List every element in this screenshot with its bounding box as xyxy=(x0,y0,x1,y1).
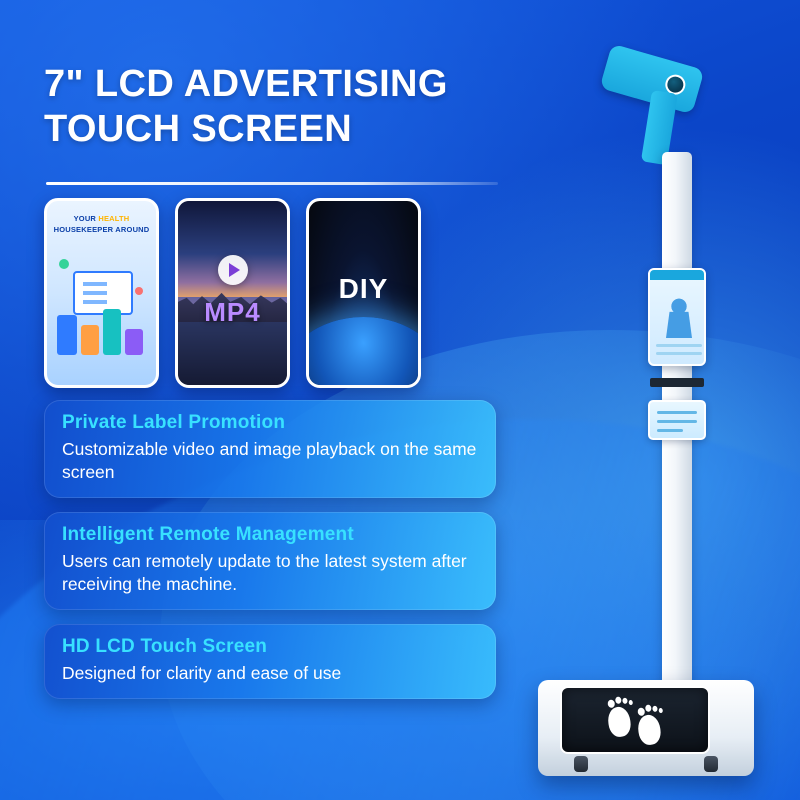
mp4-video-thumb: MP4 xyxy=(175,198,290,388)
toe-3 xyxy=(622,698,628,705)
printer-slot xyxy=(650,378,704,387)
toe-4 xyxy=(628,700,633,706)
green-dot-icon xyxy=(59,259,69,269)
diy-thumb: DIY xyxy=(306,198,421,388)
health-illustration xyxy=(55,253,147,371)
screen-text-line-2 xyxy=(656,352,702,355)
product-poster: 7" LCD ADVERTISING TOUCH SCREEN YOUR HEA… xyxy=(0,0,800,800)
feature-card-remote-management: Intelligent Remote Management Users can … xyxy=(44,512,496,610)
base-foot-left xyxy=(574,756,588,772)
caption-line-2: HOUSEKEEPER AROUND xyxy=(54,225,150,234)
feature-title: HD LCD Touch Screen xyxy=(62,636,478,658)
toe-2 xyxy=(645,704,652,712)
info-panel xyxy=(648,400,706,440)
toe-3 xyxy=(652,706,658,713)
feature-card-private-label: Private Label Promotion Customizable vid… xyxy=(44,400,496,498)
mp4-label: MP4 xyxy=(178,297,287,328)
health-poster-thumb: YOUR HEALTH HOUSEKEEPER AROUND xyxy=(44,198,159,388)
headline-line-1: 7" LCD ADVERTISING xyxy=(44,63,448,105)
toe-4 xyxy=(658,708,663,714)
red-dot-icon xyxy=(135,287,143,295)
monitor-icon xyxy=(73,271,133,315)
feature-card-hd-touch-screen: HD LCD Touch Screen Designed for clarity… xyxy=(44,624,496,699)
foot-sole xyxy=(636,713,662,746)
info-line-2 xyxy=(657,420,697,423)
info-line-3 xyxy=(657,429,683,432)
feature-body: Users can remotely update to the latest … xyxy=(62,550,478,596)
person-figure-icon xyxy=(666,294,692,338)
earth-globe-graphic xyxy=(306,317,421,388)
health-poster-caption: YOUR HEALTH HOUSEKEEPER AROUND xyxy=(47,213,156,236)
screen-text-line-1 xyxy=(656,344,702,347)
play-icon[interactable] xyxy=(218,255,248,285)
foot-sole xyxy=(606,705,632,738)
water-area xyxy=(178,322,287,385)
feature-card-list: Private Label Promotion Customizable vid… xyxy=(44,400,496,713)
lcd-touch-screen[interactable] xyxy=(648,268,706,366)
feature-title: Private Label Promotion xyxy=(62,412,478,434)
chart-bar-3 xyxy=(103,309,121,355)
footprint-right-icon xyxy=(635,702,675,752)
height-weight-scale-kiosk xyxy=(520,40,780,780)
headline-divider xyxy=(46,182,498,185)
thumbnail-row: YOUR HEALTH HOUSEKEEPER AROUND MP4 DIY xyxy=(44,198,421,388)
headline-line-2: TOUCH SCREEN xyxy=(44,107,564,152)
feature-body: Designed for clarity and ease of use xyxy=(62,662,478,685)
caption-highlight: HEALTH xyxy=(98,214,129,223)
weighing-platform xyxy=(560,686,710,754)
info-line-1 xyxy=(657,411,697,414)
toe-2 xyxy=(615,696,622,704)
feature-title: Intelligent Remote Management xyxy=(62,524,478,546)
base-foot-right xyxy=(704,756,718,772)
headline: 7" LCD ADVERTISING TOUCH SCREEN xyxy=(44,62,564,152)
diy-label: DIY xyxy=(309,273,418,305)
screen-header-bar xyxy=(650,270,704,280)
chart-bar-4 xyxy=(125,329,143,355)
feature-body: Customizable video and image playback on… xyxy=(62,438,478,484)
caption-prefix: YOUR xyxy=(74,214,99,223)
chart-bar-2 xyxy=(81,325,99,355)
chart-bar-1 xyxy=(57,315,77,355)
